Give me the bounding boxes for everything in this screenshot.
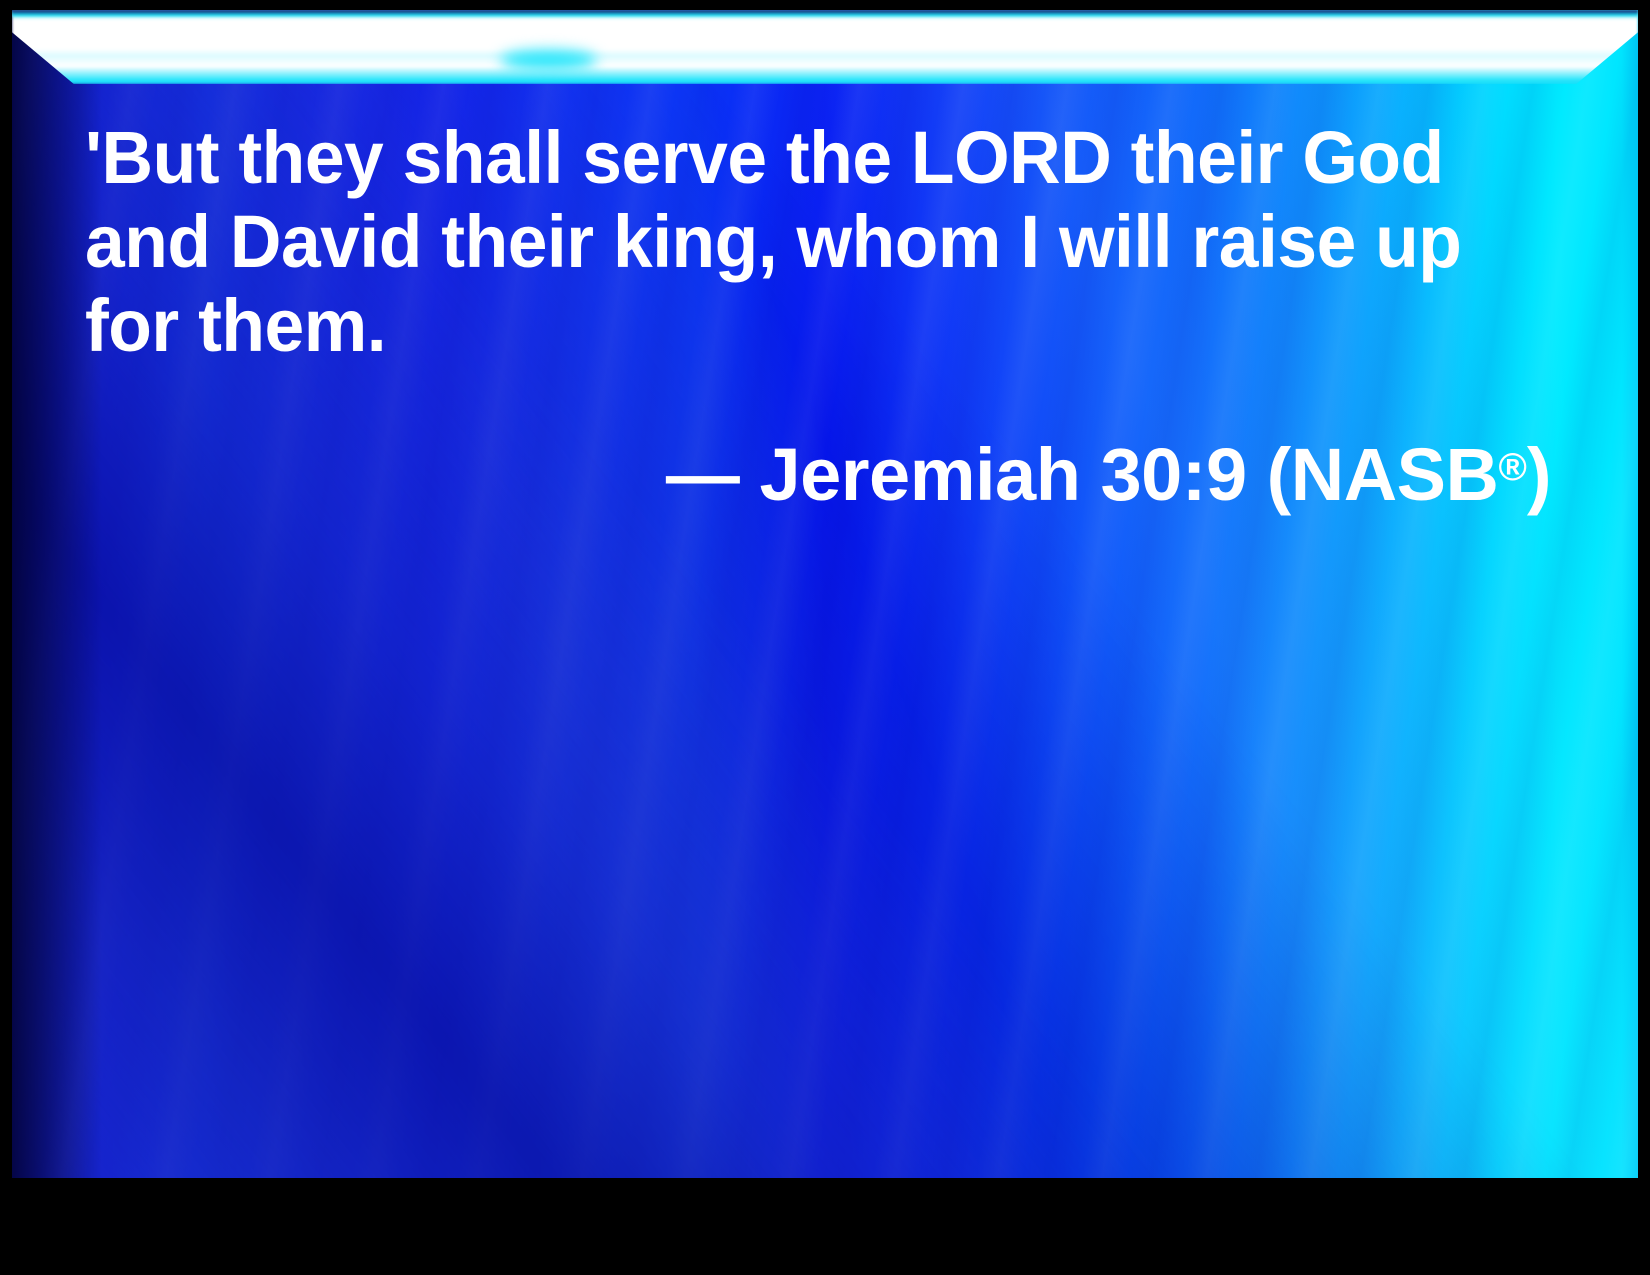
verse-attribution: — Jeremiah 30:9 (NASB®) <box>85 426 1555 517</box>
verse-slide: 'But they shall serve the LORD their God… <box>0 0 1650 1275</box>
attribution-translation-close: ) <box>1527 433 1551 516</box>
verse-line-2: and David their king, whom I will raise … <box>85 200 1504 284</box>
band-top-rule <box>12 10 1638 17</box>
attribution-dash: — <box>666 433 740 516</box>
band-glow-spot <box>500 50 598 70</box>
verse-line-3: for them. <box>85 284 1504 368</box>
attribution-chapter-verse: 30:9 <box>1100 433 1246 516</box>
verse-text-block: 'But they shall serve the LORD their God… <box>85 116 1555 517</box>
band-core <box>12 10 1638 84</box>
attribution-book: Jeremiah <box>759 433 1080 516</box>
top-highlight-band <box>12 10 1638 84</box>
registered-trademark-icon: ® <box>1498 446 1526 489</box>
attribution-translation-open: (NASB <box>1267 433 1499 516</box>
verse-line-1: 'But they shall serve the LORD their God <box>85 116 1504 200</box>
slide-panel: 'But they shall serve the LORD their God… <box>12 10 1638 1178</box>
